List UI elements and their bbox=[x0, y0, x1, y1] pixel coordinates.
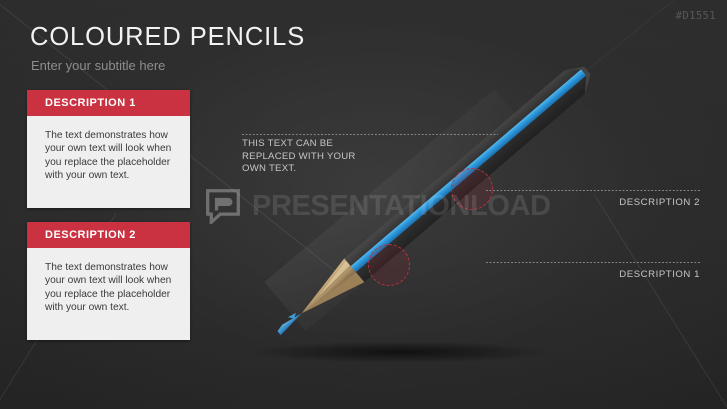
description-card-1[interactable]: DESCRIPTION 1 The text demonstrates how … bbox=[27, 90, 190, 208]
background-diagonal-line bbox=[447, 0, 704, 184]
card-header-1: DESCRIPTION 1 bbox=[27, 90, 190, 116]
watermark: PRESENTATIONLOAD bbox=[205, 188, 551, 224]
leader-line-right-top bbox=[486, 190, 700, 191]
card-header-2: DESCRIPTION 2 bbox=[27, 222, 190, 248]
page-subtitle[interactable]: Enter your subtitle here bbox=[31, 58, 165, 73]
description-card-2[interactable]: DESCRIPTION 2 The text demonstrates how … bbox=[27, 222, 190, 340]
watermark-text: PRESENTATIONLOAD bbox=[252, 190, 551, 223]
callout-label-description-1[interactable]: DESCRIPTION 1 bbox=[619, 269, 700, 280]
slide-canvas: PRESENTATIONLOAD COLOURED PENCILS Enter … bbox=[0, 0, 727, 409]
page-title: COLOURED PENCILS bbox=[30, 23, 305, 52]
speech-bubble-icon bbox=[205, 188, 241, 224]
leader-line-center bbox=[242, 134, 498, 135]
background-diagonal-line bbox=[595, 195, 727, 408]
card-body-2[interactable]: The text demonstrates how your own text … bbox=[27, 248, 190, 315]
marker-ring-top bbox=[451, 168, 493, 210]
marker-ring-bottom bbox=[368, 244, 410, 286]
callout-center-text[interactable]: THIS TEXT CAN BE REPLACED WITH YOUR OWN … bbox=[242, 138, 372, 176]
leader-line-right-bottom bbox=[486, 262, 700, 263]
callout-label-description-2[interactable]: DESCRIPTION 2 bbox=[619, 197, 700, 208]
document-id: #D1551 bbox=[676, 10, 716, 22]
card-body-1[interactable]: The text demonstrates how your own text … bbox=[27, 116, 190, 183]
